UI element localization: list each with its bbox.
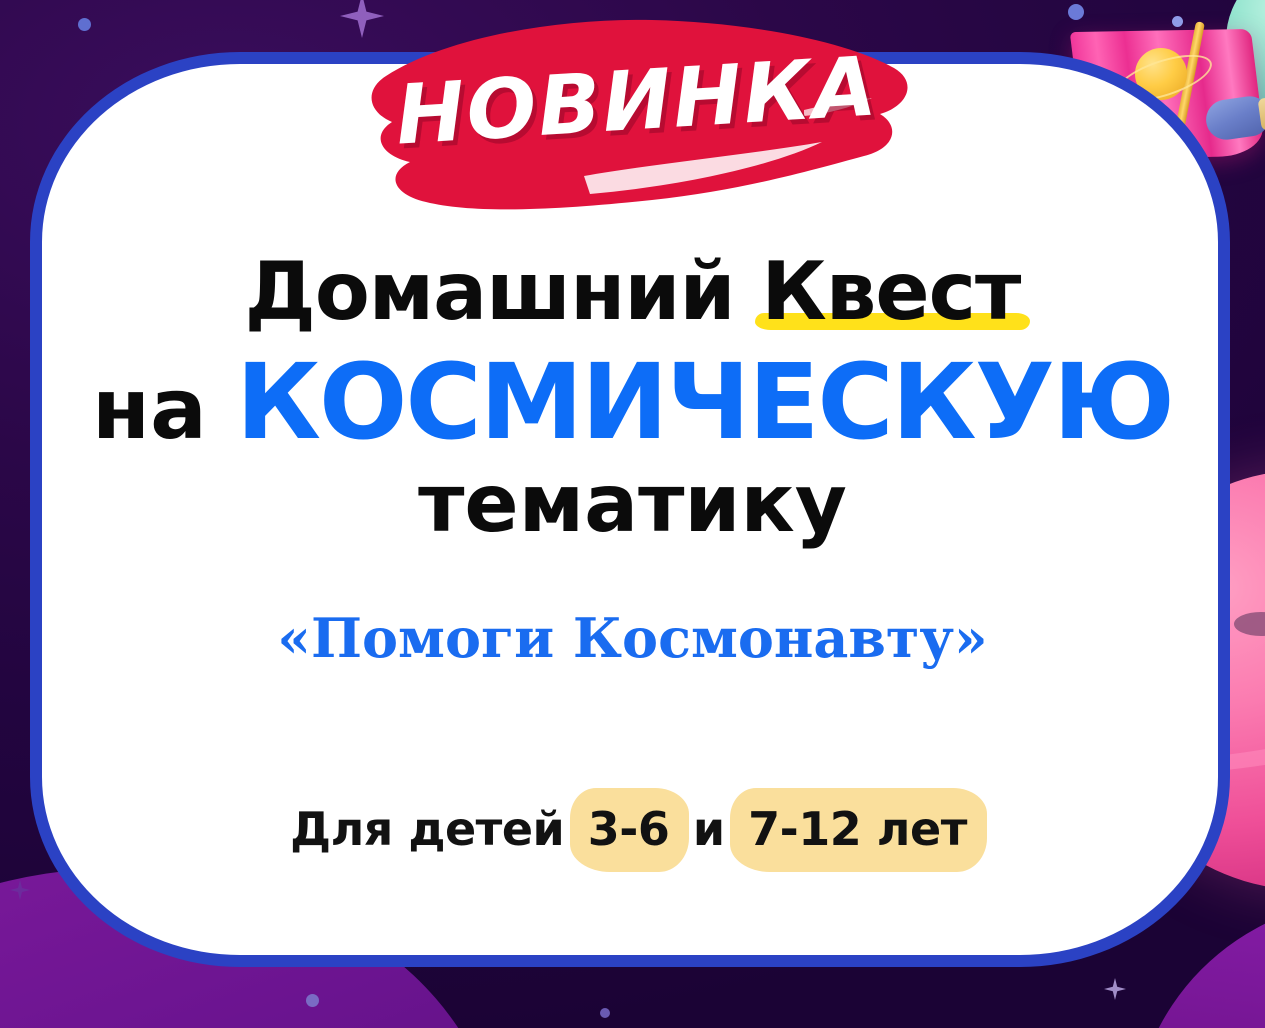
age-range-1-mark: 3-6 — [580, 802, 678, 856]
star-dot-icon — [1172, 16, 1183, 27]
new-badge: НОВИНКА — [352, 14, 922, 224]
age-conjunction: и — [677, 802, 740, 856]
age-range-line: Для детей 3-6 и 7-12 лет — [60, 802, 1205, 856]
headline-highlight-word: Квест — [761, 250, 1020, 334]
age-prefix: Для детей — [290, 802, 580, 856]
age-range-2: 7-12 лет — [748, 802, 967, 856]
card-content: Домашний Квест на КОСМИЧЕСКУЮ тематику «… — [60, 250, 1205, 856]
headline-line-1-prefix: Домашний — [245, 245, 762, 338]
headline-line-1: Домашний Квест — [60, 250, 1205, 334]
quest-subtitle: «Помоги Космонавту» — [60, 606, 1205, 670]
headline-line-2-prefix: на — [92, 360, 236, 458]
star-dot-icon — [306, 994, 319, 1007]
star-dot-icon — [78, 18, 91, 31]
age-range-1: 3-6 — [588, 802, 670, 856]
sparkle-star-icon — [1104, 978, 1126, 1000]
headline-line-2: на КОСМИЧЕСКУЮ — [60, 346, 1205, 458]
headline-line-2-accent: КОСМИЧЕСКУЮ — [236, 341, 1173, 463]
headline-line-3: тематику — [60, 462, 1205, 546]
promo-banner: НОВИНКА Домашний Квест на КОСМИЧЕСКУЮ те… — [0, 0, 1265, 1028]
headline-line-1-highlight: Квест — [761, 245, 1020, 338]
age-range-2-mark: 7-12 лет — [740, 802, 975, 856]
star-dot-icon — [600, 1008, 610, 1018]
star-dot-icon — [1068, 4, 1084, 20]
